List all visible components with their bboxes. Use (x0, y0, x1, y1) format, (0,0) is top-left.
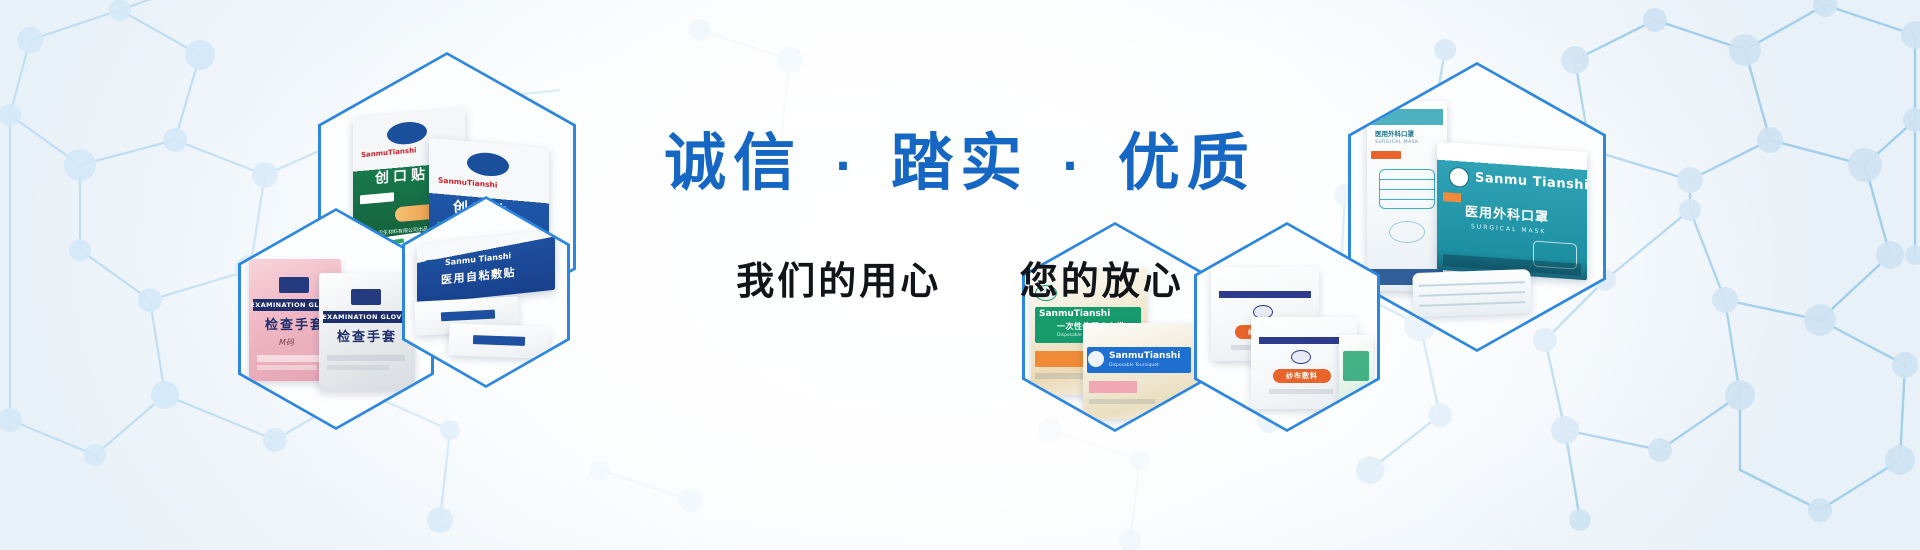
shield-logo-icon (1087, 350, 1105, 368)
hero-banner: SanmuTianshi 创口贴 南通三木卫生材料有限公司出品 SanmuTia… (0, 0, 1920, 550)
packet-label (473, 335, 525, 346)
product-name-en: SURGICAL MASK (1471, 224, 1546, 235)
headline-separator-1: · (831, 141, 863, 192)
shield-logo-icon (1291, 350, 1311, 364)
mask-pleat (1419, 301, 1525, 306)
info-strip (1089, 399, 1155, 404)
product-name-cn: 医用外科口罩 (1465, 206, 1549, 225)
subline-left: 我们的用心 (736, 259, 941, 303)
dressing-packet-2 (448, 323, 549, 358)
label-navy-strip (1259, 337, 1349, 344)
label-green (1343, 351, 1369, 381)
product-name-cn: 检查手套 (337, 331, 397, 344)
subline-right: 您的放心 (1020, 259, 1184, 303)
headline-part-2: 踏实 (891, 126, 1029, 199)
product-pack-gauze-side (1339, 335, 1373, 409)
info-strip (327, 355, 405, 361)
headline: 诚信 · 踏实 · 优质 (0, 132, 1920, 194)
headline-part-1: 诚信 (664, 126, 802, 199)
product-name-en: EXAMINATION GLOVES (322, 314, 411, 321)
size-text: M码 (279, 339, 294, 347)
product-pack-tourniquet-front: SanmuTianshi Disposable Tourniquet (1083, 323, 1197, 419)
product-name-badge: 纱布敷料 (1273, 369, 1331, 383)
hexagon-tourniquet-inner: SanmuTianshi 一次性使用止血带 Disposable Tourniq… (1025, 225, 1205, 429)
brand-text: SanmuTianshi (1039, 310, 1110, 319)
accent-strip (1089, 381, 1137, 393)
hexagon-tourniquet: SanmuTianshi 一次性使用止血带 Disposable Tourniq… (1022, 222, 1208, 432)
headline-part-3: 优质 (1118, 126, 1256, 199)
mask-pleat (1379, 199, 1435, 200)
product-name-cn: 纱布敷料 (1286, 373, 1318, 380)
mask-ear-loop (1389, 221, 1425, 243)
product-name-cn: 检查手套 (265, 319, 325, 332)
packet-label (441, 310, 495, 322)
product-name-en-band: EXAMINATION GLOVES (323, 311, 411, 323)
info-strip (327, 365, 389, 370)
accent-orange-strip (1035, 351, 1087, 367)
info-strip (257, 365, 317, 370)
info-strip (1269, 389, 1333, 394)
product-name-en: Disposable Tourniquet (1109, 364, 1159, 369)
subline: 我们的用心 您的放心 (0, 262, 1920, 300)
badge-strip (360, 192, 394, 204)
box-header-band (1371, 109, 1443, 125)
hexagon-mask: 医用外科口罩 SURGICAL MASK Sanmu Tianshi 医用外科口… (1348, 62, 1606, 352)
hexagon-mask-inner: 医用外科口罩 SURGICAL MASK Sanmu Tianshi 医用外科口… (1351, 65, 1603, 349)
headline-separator-2: · (1058, 141, 1090, 192)
brand-text: SanmuTianshi (1109, 352, 1180, 361)
